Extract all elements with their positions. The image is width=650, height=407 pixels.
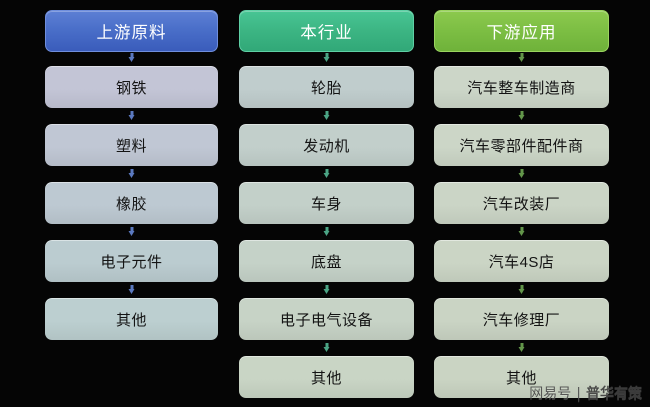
- flow-arrow-down-icon: [518, 53, 525, 62]
- chain-column-downstream: 下游应用汽车整车制造商汽车零部件配件商汽车改装厂汽车4S店汽车修理厂其他: [434, 0, 609, 407]
- chain-item-label: 汽车改装厂: [483, 193, 561, 214]
- flow-arrow-down-icon: [518, 343, 525, 352]
- chain-item-label: 塑料: [116, 135, 147, 156]
- flow-arrow-down-icon: [323, 227, 330, 236]
- flow-arrow-down-icon: [323, 53, 330, 62]
- chain-item-box[interactable]: 电子电气设备: [239, 298, 414, 340]
- chain-header-label: 本行业: [300, 19, 353, 43]
- chain-item-box[interactable]: 电子元件: [45, 240, 218, 282]
- chain-item-box[interactable]: 其他: [239, 356, 414, 398]
- chain-item-label: 其他: [311, 367, 342, 388]
- chain-item-box[interactable]: 橡胶: [45, 182, 218, 224]
- chain-column-industry: 本行业轮胎发动机车身底盘电子电气设备其他: [239, 0, 414, 407]
- chain-item-box[interactable]: 其他: [45, 298, 218, 340]
- chain-item-box[interactable]: 轮胎: [239, 66, 414, 108]
- flow-arrow-down-icon: [128, 111, 135, 120]
- chain-item-label: 其他: [116, 309, 147, 330]
- chain-item-box[interactable]: 汽车修理厂: [434, 298, 609, 340]
- chain-item-box[interactable]: 车身: [239, 182, 414, 224]
- chain-item-box[interactable]: 汽车整车制造商: [434, 66, 609, 108]
- flow-arrow-down-icon: [128, 227, 135, 236]
- flow-arrow-down-icon: [518, 227, 525, 236]
- chain-item-label: 底盘: [311, 251, 342, 272]
- flow-arrow-down-icon: [518, 285, 525, 294]
- flow-arrow-down-icon: [323, 169, 330, 178]
- chain-item-box[interactable]: 塑料: [45, 124, 218, 166]
- chain-item-label: 电子元件: [100, 251, 162, 272]
- chain-item-label: 其他: [506, 367, 537, 388]
- chain-item-box[interactable]: 汽车改装厂: [434, 182, 609, 224]
- flow-arrow-down-icon: [128, 53, 135, 62]
- flow-arrow-down-icon: [518, 169, 525, 178]
- chain-item-box[interactable]: 钢铁: [45, 66, 218, 108]
- chain-item-label: 车身: [311, 193, 342, 214]
- chain-header-upstream[interactable]: 上游原料: [45, 10, 218, 52]
- chain-item-box[interactable]: 汽车零部件配件商: [434, 124, 609, 166]
- flow-arrow-down-icon: [323, 111, 330, 120]
- flow-arrow-down-icon: [323, 285, 330, 294]
- chain-item-label: 轮胎: [311, 77, 342, 98]
- chain-item-label: 电子电气设备: [280, 309, 373, 330]
- flow-arrow-down-icon: [518, 111, 525, 120]
- flow-arrow-down-icon: [128, 169, 135, 178]
- chain-header-label: 下游应用: [487, 19, 557, 43]
- chain-column-upstream: 上游原料钢铁塑料橡胶电子元件其他: [45, 0, 218, 407]
- chain-item-box[interactable]: 发动机: [239, 124, 414, 166]
- chain-header-industry[interactable]: 本行业: [239, 10, 414, 52]
- chain-item-box[interactable]: 底盘: [239, 240, 414, 282]
- chain-item-box[interactable]: 汽车4S店: [434, 240, 609, 282]
- chain-header-downstream[interactable]: 下游应用: [434, 10, 609, 52]
- chain-item-label: 汽车修理厂: [483, 309, 561, 330]
- chain-item-label: 汽车4S店: [489, 251, 555, 272]
- chain-header-label: 上游原料: [97, 19, 167, 43]
- flow-arrow-down-icon: [128, 285, 135, 294]
- chain-item-box[interactable]: 其他: [434, 356, 609, 398]
- chain-item-label: 汽车整车制造商: [467, 77, 576, 98]
- chain-item-label: 橡胶: [116, 193, 147, 214]
- chain-item-label: 汽车零部件配件商: [459, 135, 583, 156]
- flow-arrow-down-icon: [323, 343, 330, 352]
- chain-item-label: 钢铁: [116, 77, 147, 98]
- chain-item-label: 发动机: [303, 135, 350, 156]
- industry-chain-diagram: 上游原料钢铁塑料橡胶电子元件其他 本行业轮胎发动机车身底盘电子电气设备其他 下游…: [0, 0, 650, 407]
